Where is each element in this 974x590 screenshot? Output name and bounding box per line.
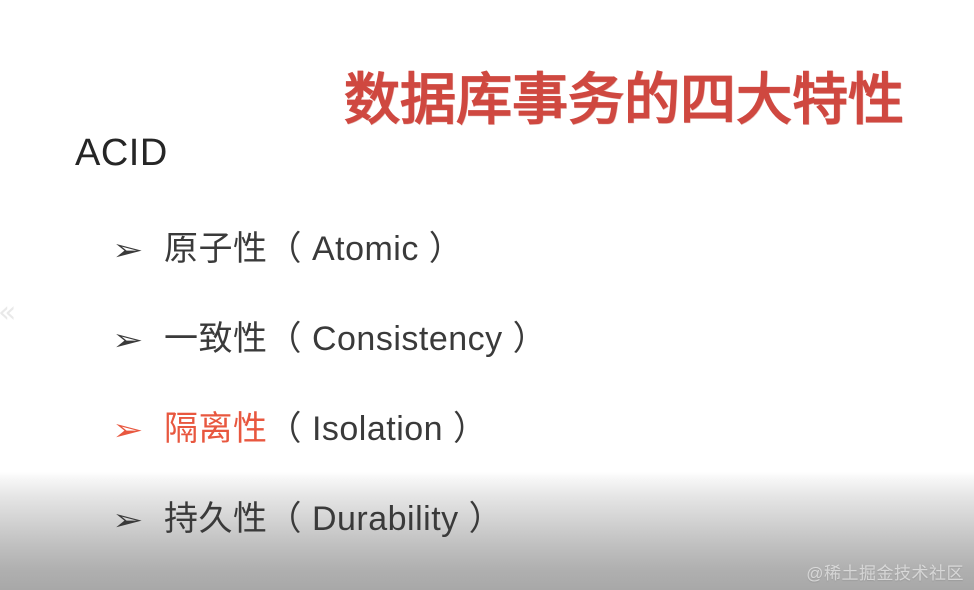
slide-canvas: « 数据库事务的四大特性 ACID ➢ 原子性（ Atomic ） ➢ 一致性（…	[0, 0, 974, 590]
arrow-bullet-icon: ➢	[112, 326, 177, 356]
list-item-text: 隔离性（ Isolation ）	[164, 412, 488, 446]
list-item-label-en: （ Atomic ）	[268, 230, 464, 268]
acid-heading: ACID	[75, 133, 168, 175]
acid-bullet-list: ➢ 原子性（ Atomic ） ➢ 一致性（ Consistency ） ➢ 隔…	[112, 232, 547, 590]
list-item: ➢ 一致性（ Consistency ）	[112, 322, 547, 412]
list-item-label-en: （ Isolation ）	[268, 410, 488, 448]
arrow-bullet-icon: ➢	[112, 506, 177, 536]
list-item-label-en: （ Durability ）	[268, 500, 504, 538]
list-item-text: 原子性（ Atomic ）	[164, 232, 463, 266]
left-edge-chevron-icon: «	[0, 298, 16, 328]
arrow-bullet-icon: ➢	[112, 236, 177, 266]
slide-title: 数据库事务的四大特性	[344, 68, 904, 132]
watermark: @稀土掘金技术社区	[806, 564, 964, 584]
list-item-text: 一致性（ Consistency ）	[164, 322, 547, 356]
list-item-label-en: （ Consistency ）	[268, 320, 548, 358]
arrow-bullet-icon: ➢	[112, 416, 177, 446]
list-item-label-cn: 一致性	[164, 320, 268, 358]
list-item-label-cn: 隔离性	[164, 410, 268, 448]
list-item-text: 持久性（ Durability ）	[164, 502, 503, 536]
list-item: ➢ 持久性（ Durability ）	[112, 502, 547, 590]
list-item: ➢ 隔离性（ Isolation ）	[112, 412, 547, 502]
list-item-label-cn: 持久性	[164, 500, 268, 538]
list-item-label-cn: 原子性	[164, 230, 268, 268]
list-item: ➢ 原子性（ Atomic ）	[112, 232, 547, 322]
